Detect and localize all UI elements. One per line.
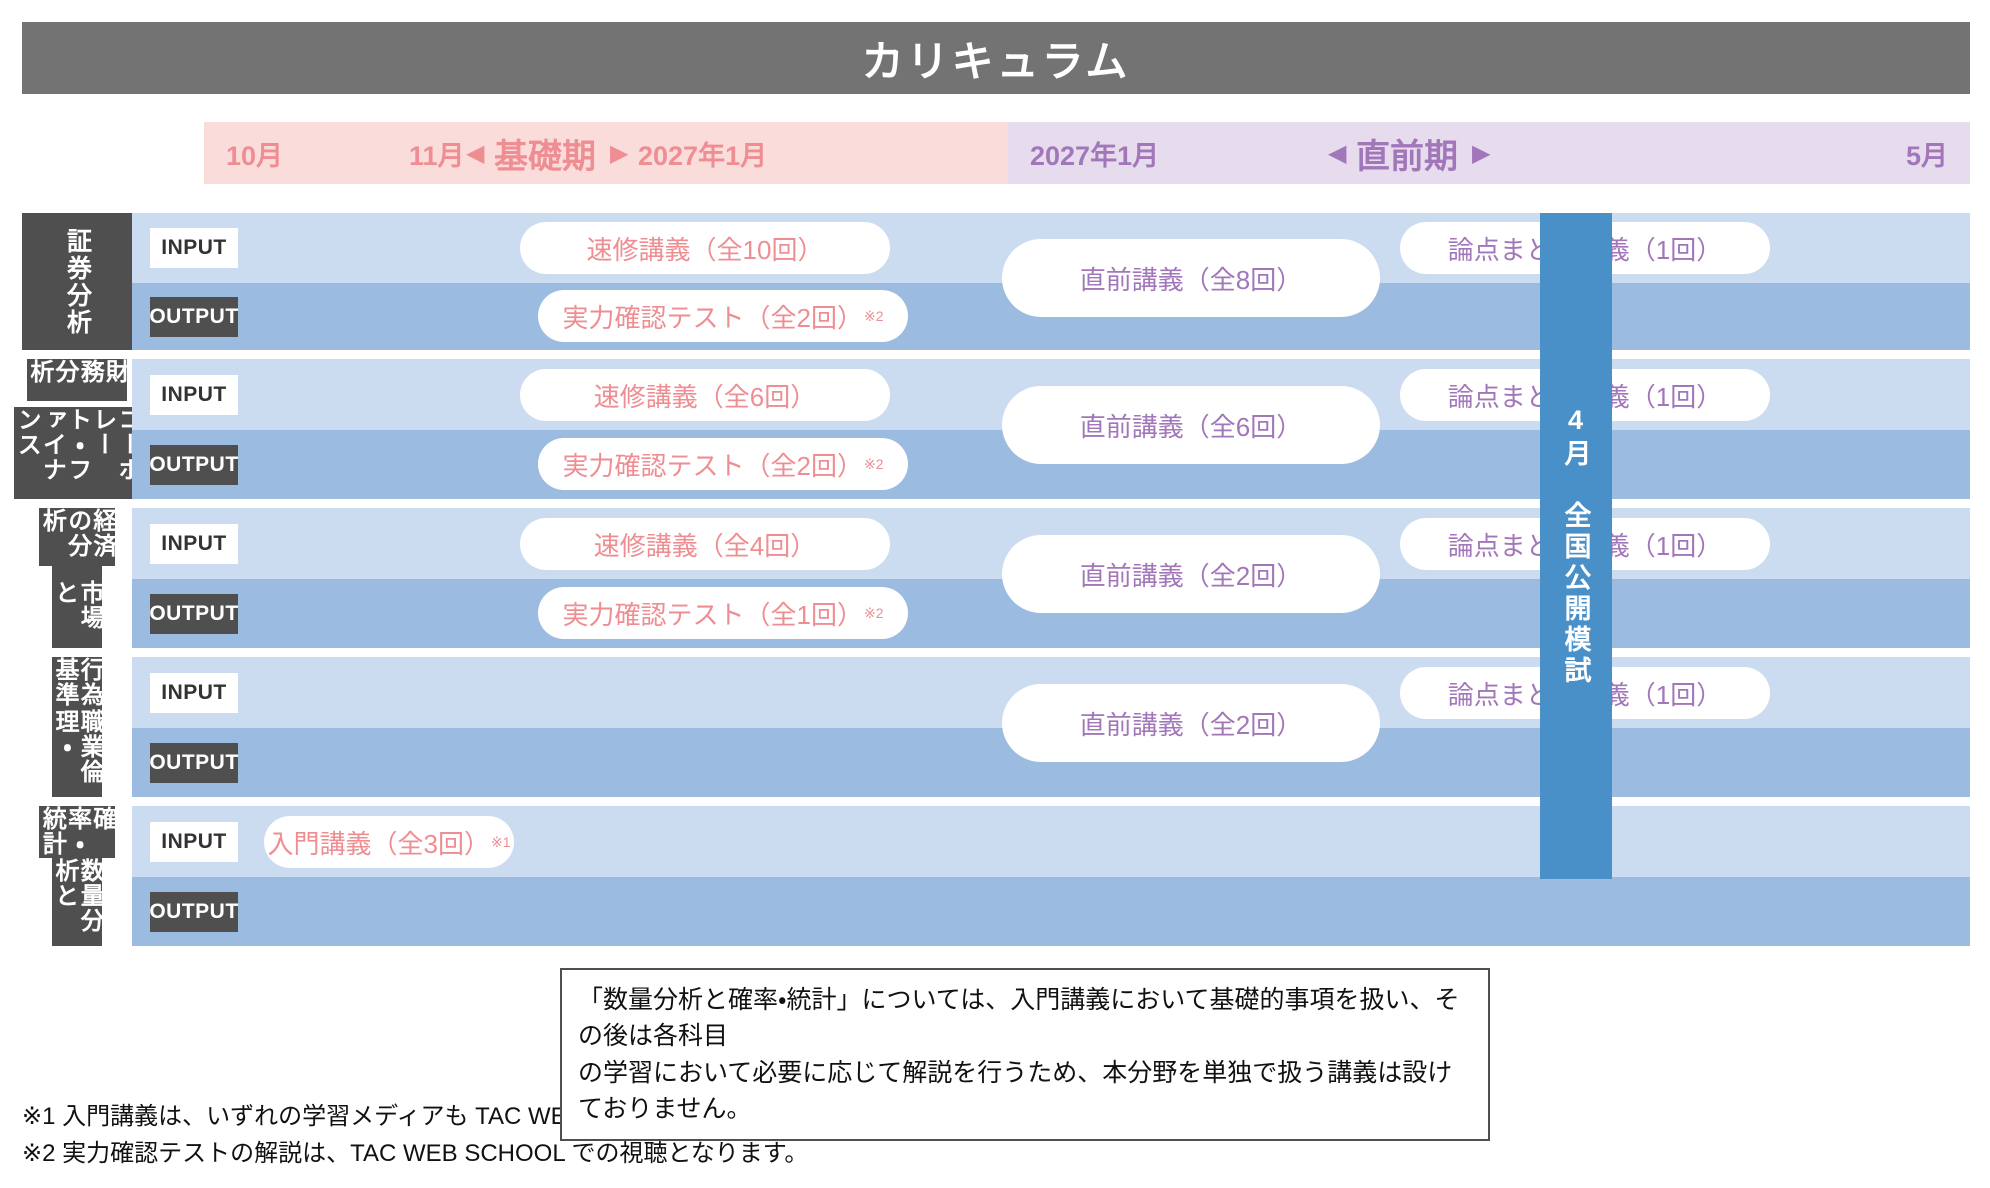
nyumon-pill[interactable]: 入門講義（全3回）※1	[264, 816, 514, 868]
timeline-phase-chokuzen: 2027年1月 ◀ 直前期 ▶ 5月	[1008, 122, 1970, 184]
curriculum-row: 証券分析 INPUT 速修講義（全10回） 直前講義（全8回） 論点まとめ講義（…	[22, 213, 1970, 350]
kiso-end-month: 2027年1月	[638, 134, 767, 173]
note-line-1: 「数量分析と確率・統計」については、入門講義において基礎的事項を扱い、その後は各…	[578, 982, 1472, 1055]
chokuzen-end-month: 5月	[1906, 134, 1948, 173]
chokuzen-phase-label: 直前期	[1356, 129, 1458, 178]
input-lane: INPUT 直前講義（全2回） 論点まとめ講義（1回）	[132, 657, 1970, 728]
input-pill-label: 速修講義（全10回）	[587, 230, 824, 267]
input-pill[interactable]: 速修講義（全6回）	[520, 369, 890, 421]
chokuzen-pill-label: 直前講義（全8回）	[1080, 260, 1302, 297]
row-body: INPUT 直前講義（全2回） 論点まとめ講義（1回） OUTPUT	[132, 657, 1970, 797]
national-mock-exam-column: 4月 全国公開模試	[1540, 213, 1612, 879]
kiso-right-arrow-icon: ▶	[610, 139, 628, 168]
row-category-label-main: 市場と	[52, 566, 102, 648]
row-category-label: 証券分析	[22, 213, 132, 350]
chokuzen-right-arrow-icon: ▶	[1472, 139, 1490, 168]
kiso-left-arrow-icon: ◀	[466, 139, 484, 168]
row-category-group: 確率・統計 数量分析と	[22, 806, 132, 946]
output-tag: OUTPUT	[150, 892, 238, 932]
output-pill[interactable]: 実力確認テスト（全2回）※2	[538, 438, 908, 490]
row-category-label-main: コーポレート・ファイナンス	[14, 407, 140, 499]
kiso-start-month: 10月	[226, 134, 283, 173]
row-body: INPUT 速修講義（全10回） 直前講義（全8回） 論点まとめ講義（1回） O…	[132, 213, 1970, 350]
input-tag: INPUT	[150, 673, 238, 713]
output-pill-label: 実力確認テスト（全2回）	[563, 446, 863, 483]
output-tag: OUTPUT	[150, 445, 238, 485]
input-lane: INPUT 速修講義（全10回） 直前講義（全8回） 論点まとめ講義（1回）	[132, 213, 1970, 283]
row-body: INPUT 速修講義（全4回） 直前講義（全2回） 論点まとめ講義（1回） OU…	[132, 508, 1970, 648]
input-tag: INPUT	[150, 228, 238, 268]
timeline-band: 10月 11月 ◀ 基礎期 ▶ 2027年1月 2027年1月 ◀ 直前期 ▶ …	[204, 122, 1970, 184]
curriculum-row: 経済の分析 市場と INPUT 速修講義（全4回） 直前講義（全2回） 論点まと…	[22, 508, 1970, 648]
chokuzen-pill[interactable]: 直前講義（全6回）	[1002, 386, 1380, 464]
output-tag: OUTPUT	[150, 594, 238, 634]
chokuzen-start-month: 2027年1月	[1030, 134, 1159, 173]
kiso-phase-label: 基礎期	[494, 129, 596, 178]
page-title: カリキュラム	[862, 28, 1131, 89]
output-pill-footnote-mark: ※2	[864, 605, 884, 622]
input-pill-label: 速修講義（全4回）	[594, 526, 816, 563]
chokuzen-pill[interactable]: 直前講義（全8回）	[1002, 239, 1380, 317]
chokuzen-pill-label: 直前講義（全6回）	[1080, 407, 1302, 444]
nyumon-pill-footnote-mark: ※1	[491, 834, 511, 851]
row-category-label-sub: 財務分析	[27, 359, 128, 401]
output-tag: OUTPUT	[150, 743, 238, 783]
row-category-group: 行為基準 職業倫理・	[22, 657, 132, 797]
output-pill-label: 実力確認テスト（全1回）	[563, 595, 863, 632]
output-tag: OUTPUT	[150, 297, 238, 337]
nyumon-pill-label: 入門講義（全3回）	[268, 824, 490, 861]
chokuzen-pill[interactable]: 直前講義（全2回）	[1002, 684, 1380, 762]
curriculum-rows: 証券分析 INPUT 速修講義（全10回） 直前講義（全8回） 論点まとめ講義（…	[22, 213, 1970, 955]
row-body: INPUT 入門講義（全3回）※1 OUTPUT	[132, 806, 1970, 946]
timeline-phase-kiso: 10月 11月 ◀ 基礎期 ▶ 2027年1月	[204, 122, 1008, 184]
output-pill[interactable]: 実力確認テスト（全1回）※2	[538, 587, 908, 639]
kiso-second-month: 11月	[409, 134, 465, 173]
output-pill-footnote-mark: ※2	[864, 308, 884, 325]
row-category-group: 経済の分析 市場と	[22, 508, 132, 648]
row-category-label-sub: 確率・統計	[39, 806, 115, 858]
row-category-label-main: 職業倫理・	[52, 709, 102, 797]
output-pill-label: 実力確認テスト（全2回）	[563, 298, 863, 335]
chokuzen-pill[interactable]: 直前講義（全2回）	[1002, 535, 1380, 613]
output-lane: OUTPUT	[132, 877, 1970, 946]
chokuzen-pill-label: 直前講義（全2回）	[1080, 556, 1302, 593]
page-title-bar: カリキュラム	[22, 22, 1970, 94]
input-lane: INPUT 速修講義（全6回） 直前講義（全6回） 論点まとめ講義（1回）	[132, 359, 1970, 430]
input-pill[interactable]: 速修講義（全10回）	[520, 222, 890, 274]
input-lane: INPUT 入門講義（全3回）※1	[132, 806, 1970, 877]
note-line-2: の学習において必要に応じて解説を行うため、本分野を単独で扱う講義は設けておりませ…	[578, 1055, 1472, 1128]
curriculum-row: 行為基準 職業倫理・ INPUT 直前講義（全2回） 論点まとめ講義（1回）	[22, 657, 1970, 797]
input-pill[interactable]: 速修講義（全4回）	[520, 518, 890, 570]
output-pill[interactable]: 実力確認テスト（全2回）※2	[538, 290, 908, 342]
input-pill-label: 速修講義（全6回）	[594, 377, 816, 414]
curriculum-page: カリキュラム 10月 11月 ◀ 基礎期 ▶ 2027年1月 2027年1月 ◀…	[0, 0, 1990, 1188]
input-lane: INPUT 速修講義（全4回） 直前講義（全2回） 論点まとめ講義（1回）	[132, 508, 1970, 579]
input-tag: INPUT	[150, 822, 238, 862]
row-category-group: 財務分析 コーポレート・ファイナンス	[22, 359, 132, 499]
quantitative-analysis-note-box: 「数量分析と確率・統計」については、入門講義において基礎的事項を扱い、その後は各…	[560, 968, 1490, 1141]
chokuzen-left-arrow-icon: ◀	[1328, 139, 1346, 168]
row-category-label-sub: 経済の分析	[39, 508, 115, 566]
row-body: INPUT 速修講義（全6回） 直前講義（全6回） 論点まとめ講義（1回） OU…	[132, 359, 1970, 499]
chokuzen-pill-label: 直前講義（全2回）	[1080, 705, 1302, 742]
curriculum-row: 確率・統計 数量分析と INPUT 入門講義（全3回）※1 OUTPUT	[22, 806, 1970, 946]
input-tag: INPUT	[150, 524, 238, 564]
output-pill-footnote-mark: ※2	[864, 456, 884, 473]
curriculum-row: 財務分析 コーポレート・ファイナンス INPUT 速修講義（全6回） 直前講義（…	[22, 359, 1970, 499]
input-tag: INPUT	[150, 375, 238, 415]
row-category-label-sub: 行為基準	[52, 657, 102, 709]
row-category-label-main: 数量分析と	[52, 858, 102, 946]
